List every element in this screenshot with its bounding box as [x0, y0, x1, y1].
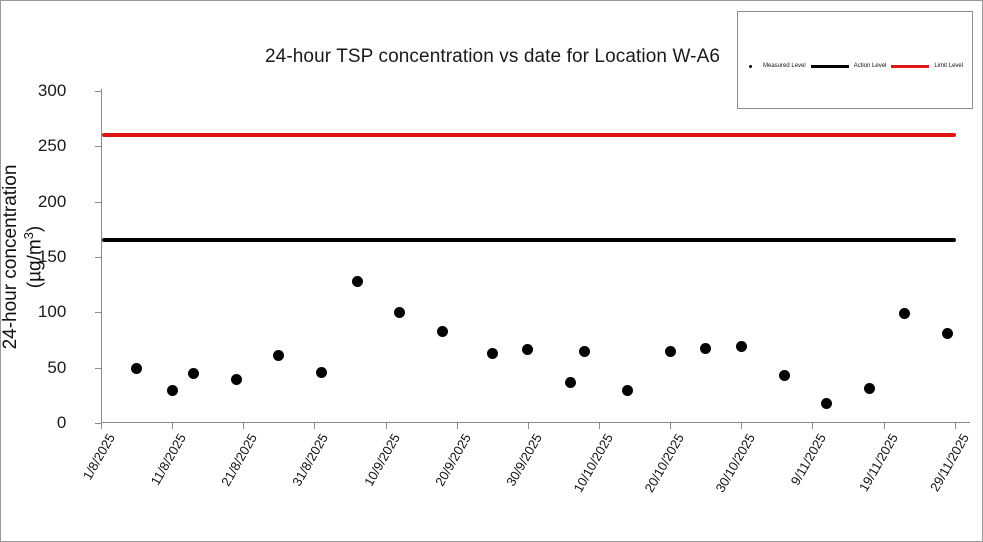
x-axis-tick	[955, 423, 956, 429]
x-axis-tick-label: 30/9/2025	[503, 431, 545, 489]
legend-item-limit-level: Limit Level	[887, 63, 964, 69]
x-axis-tick	[101, 423, 102, 429]
data-point	[188, 368, 199, 379]
data-point	[942, 328, 953, 339]
data-point	[736, 341, 747, 352]
data-point	[700, 343, 711, 354]
plot-area: 24-hour concentration (µg/m3) 0501001502…	[101, 91, 969, 423]
data-point	[864, 383, 875, 394]
data-point	[231, 374, 242, 385]
y-axis-tick-label: 200	[38, 192, 66, 212]
x-axis-tick	[314, 423, 315, 429]
x-axis-tick-label: 10/10/2025	[570, 431, 616, 495]
y-axis-tick	[95, 146, 101, 147]
x-axis-tick-label: 19/11/2025	[856, 431, 901, 494]
data-point	[131, 363, 142, 374]
data-point	[565, 377, 576, 388]
data-point	[522, 344, 533, 355]
y-axis-tick	[95, 312, 101, 313]
data-point	[316, 367, 327, 378]
x-axis-tick-label: 30/10/2025	[713, 431, 759, 495]
y-axis-tick-label: 250	[38, 136, 66, 156]
threshold-line-limit-level	[102, 133, 956, 137]
legend-item-action-level: Action Level	[807, 63, 888, 69]
x-axis-tick	[670, 423, 671, 429]
y-axis-tick	[95, 91, 101, 92]
x-axis-tick-label: 21/8/2025	[218, 431, 260, 489]
y-axis-tick	[95, 257, 101, 258]
x-axis-tick-label: 10/9/2025	[361, 431, 403, 489]
data-point	[579, 346, 590, 357]
x-axis-tick	[528, 423, 529, 429]
x-axis-tick	[812, 423, 813, 429]
x-axis-line	[101, 422, 970, 423]
x-axis-tick-label: 29/11/2025	[927, 431, 972, 494]
y-axis-tick	[95, 368, 101, 369]
legend-line-marker-limit-icon	[891, 65, 929, 68]
legend-row: Measured Level Action Level Limit Level	[738, 59, 974, 73]
x-axis-tick-label: 11/8/2025	[148, 431, 189, 488]
data-point	[167, 385, 178, 396]
legend-label-limit-level: Limit Level	[933, 63, 964, 69]
legend-label-measured-level: Measured Level	[762, 63, 807, 69]
y-axis-tick-label: 100	[38, 302, 66, 322]
data-point	[622, 385, 633, 396]
data-point	[352, 276, 363, 287]
data-point	[273, 350, 284, 361]
x-axis-tick	[884, 423, 885, 429]
data-point	[437, 326, 448, 337]
x-axis-tick	[599, 423, 600, 429]
y-axis-tick-label: 300	[38, 81, 66, 101]
legend-item-measured-level: Measured Level	[738, 63, 807, 69]
data-point	[779, 370, 790, 381]
x-axis-tick-label: 9/11/2025	[788, 431, 829, 488]
y-axis-tick	[95, 202, 101, 203]
y-axis-tick-label: 150	[38, 247, 66, 267]
y-axis-title-line1: 24-hour concentration	[0, 165, 21, 350]
y-axis-tick-label: 50	[47, 358, 66, 378]
x-axis-tick	[457, 423, 458, 429]
x-axis-tick	[172, 423, 173, 429]
x-axis-tick-label: 31/8/2025	[290, 431, 332, 489]
threshold-line-action-level	[102, 238, 956, 242]
x-axis-tick	[243, 423, 244, 429]
x-axis-tick-label: 1/8/2025	[80, 431, 118, 482]
chart-canvas: 24-hour TSP concentration vs date for Lo…	[0, 0, 983, 542]
data-point	[665, 346, 676, 357]
x-axis-tick-label: 20/9/2025	[432, 431, 474, 489]
y-axis-tick-label: 0	[57, 413, 66, 433]
x-axis-tick	[741, 423, 742, 429]
y-axis-line	[101, 89, 102, 425]
legend-line-marker-action-icon	[811, 65, 849, 68]
data-point	[394, 307, 405, 318]
data-point	[899, 308, 910, 319]
data-point	[487, 348, 498, 359]
legend-label-action-level: Action Level	[853, 63, 888, 69]
x-axis-tick	[386, 423, 387, 429]
x-axis-tick-label: 20/10/2025	[642, 431, 688, 495]
data-point	[821, 398, 832, 409]
legend-dot-marker-icon	[738, 65, 762, 68]
